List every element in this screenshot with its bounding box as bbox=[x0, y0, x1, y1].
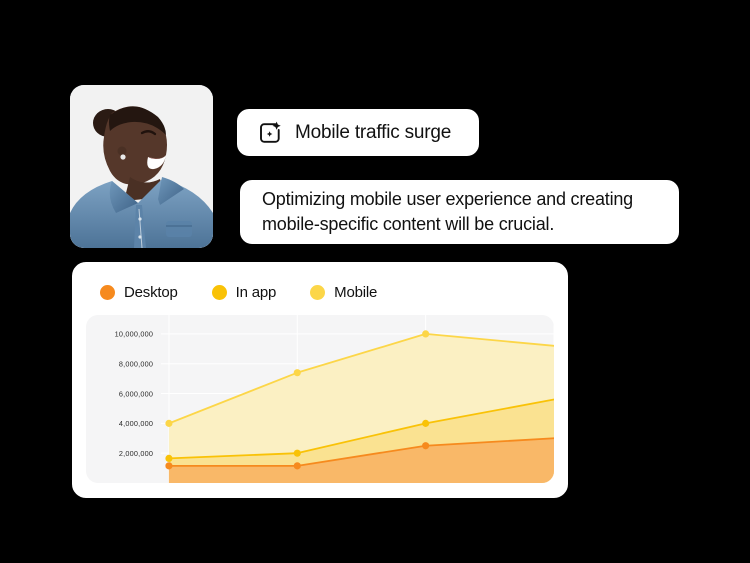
traffic-chart-card: Desktop In app Mobile 2,000,0004,000,000… bbox=[68, 258, 572, 502]
legend-dot-mobile bbox=[310, 285, 325, 300]
legend-label-desktop: Desktop bbox=[124, 284, 178, 301]
legend-item-in-app[interactable]: In app bbox=[212, 284, 277, 301]
chart-legend: Desktop In app Mobile bbox=[86, 278, 554, 301]
y-axis-tick-label: 4,000,000 bbox=[119, 419, 153, 428]
data-point-marker[interactable] bbox=[294, 450, 301, 457]
insight-body-bubble: Optimizing mobile user experience and cr… bbox=[236, 176, 683, 248]
data-point-marker[interactable] bbox=[165, 420, 172, 427]
legend-dot-in-app bbox=[212, 285, 227, 300]
data-point-marker[interactable] bbox=[422, 330, 429, 337]
insight-body-text: Optimizing mobile user experience and cr… bbox=[262, 187, 657, 237]
person-photo-icon bbox=[70, 85, 213, 248]
insight-title-bubble: Mobile traffic surge bbox=[233, 105, 483, 160]
legend-label-in-app: In app bbox=[236, 284, 277, 301]
legend-item-mobile[interactable]: Mobile bbox=[310, 284, 377, 301]
y-axis-tick-label: 8,000,000 bbox=[119, 359, 153, 368]
insight-title-text: Mobile traffic surge bbox=[295, 122, 451, 144]
y-axis-tick-label: 6,000,000 bbox=[119, 389, 153, 398]
legend-item-desktop[interactable]: Desktop bbox=[100, 284, 178, 301]
promo-illustration: Mobile traffic surge Optimizing mobile u… bbox=[0, 0, 750, 563]
data-point-marker[interactable] bbox=[294, 369, 301, 376]
chart-plot-area: 2,000,0004,000,0006,000,0008,000,00010,0… bbox=[86, 315, 554, 483]
data-point-marker[interactable] bbox=[165, 455, 172, 462]
data-point-marker[interactable] bbox=[294, 462, 301, 469]
data-point-marker[interactable] bbox=[422, 442, 429, 449]
data-point-marker[interactable] bbox=[422, 420, 429, 427]
y-axis-tick-label: 10,000,000 bbox=[115, 330, 154, 339]
data-point-marker[interactable] bbox=[165, 462, 172, 469]
legend-label-mobile: Mobile bbox=[334, 284, 377, 301]
y-axis-tick-label: 2,000,000 bbox=[119, 449, 153, 458]
avatar bbox=[70, 85, 213, 248]
legend-dot-desktop bbox=[100, 285, 115, 300]
ai-sparkle-icon bbox=[257, 120, 283, 146]
area-chart: 2,000,0004,000,0006,000,0008,000,00010,0… bbox=[86, 315, 554, 483]
